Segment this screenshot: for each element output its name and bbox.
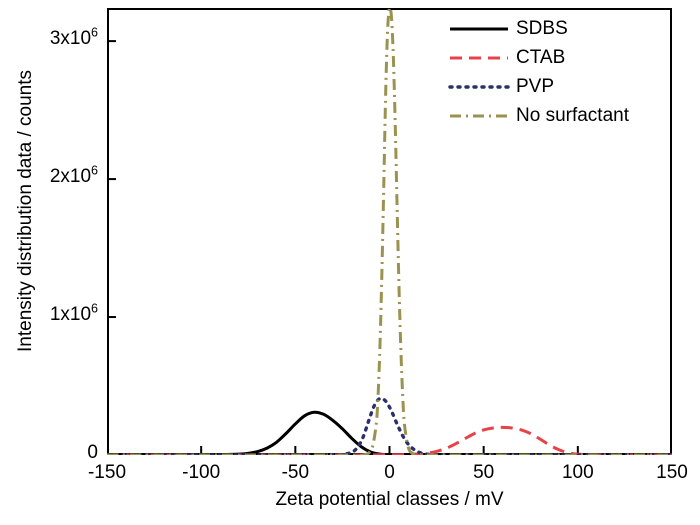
y-axis-title: Intensity distribution data / counts <box>15 1 37 421</box>
x-tick-label-6: 150 <box>632 462 700 484</box>
y-tick-label-3: 3x106 <box>50 28 98 50</box>
x-tick-label-1: -100 <box>161 462 241 484</box>
x-tick-label-4: 50 <box>444 462 524 484</box>
x-tick-label-2: -50 <box>255 462 335 484</box>
legend-item-pvp[interactable]: PVP <box>448 72 672 101</box>
legend-label: CTAB <box>516 47 565 69</box>
legend-line-sample <box>448 48 510 68</box>
x-tick-label-0: -150 <box>67 462 147 484</box>
legend-label: No surfactant <box>516 105 629 127</box>
chart-figure: 01x1062x1063x106 Intensity distribution … <box>0 0 700 525</box>
legend-line-sample <box>448 106 510 126</box>
legend-label: PVP <box>516 76 554 98</box>
x-tick-label-5: 100 <box>538 462 618 484</box>
legend-item-sdbs[interactable]: SDBS <box>448 14 672 43</box>
y-tick-label-1: 1x106 <box>50 304 98 326</box>
legend-line-sample <box>448 77 510 97</box>
x-axis-title: Zeta potential classes / mV <box>107 489 672 511</box>
legend-item-no-surfactant[interactable]: No surfactant <box>448 101 672 130</box>
x-tick-label-3: 0 <box>350 462 430 484</box>
chart-legend: SDBSCTABPVPNo surfactant <box>448 8 672 134</box>
y-tick-label-0: 0 <box>87 442 98 464</box>
legend-label: SDBS <box>516 18 568 40</box>
y-tick-label-2: 2x106 <box>50 166 98 188</box>
legend-item-ctab[interactable]: CTAB <box>448 43 672 72</box>
legend-line-sample <box>448 19 510 39</box>
